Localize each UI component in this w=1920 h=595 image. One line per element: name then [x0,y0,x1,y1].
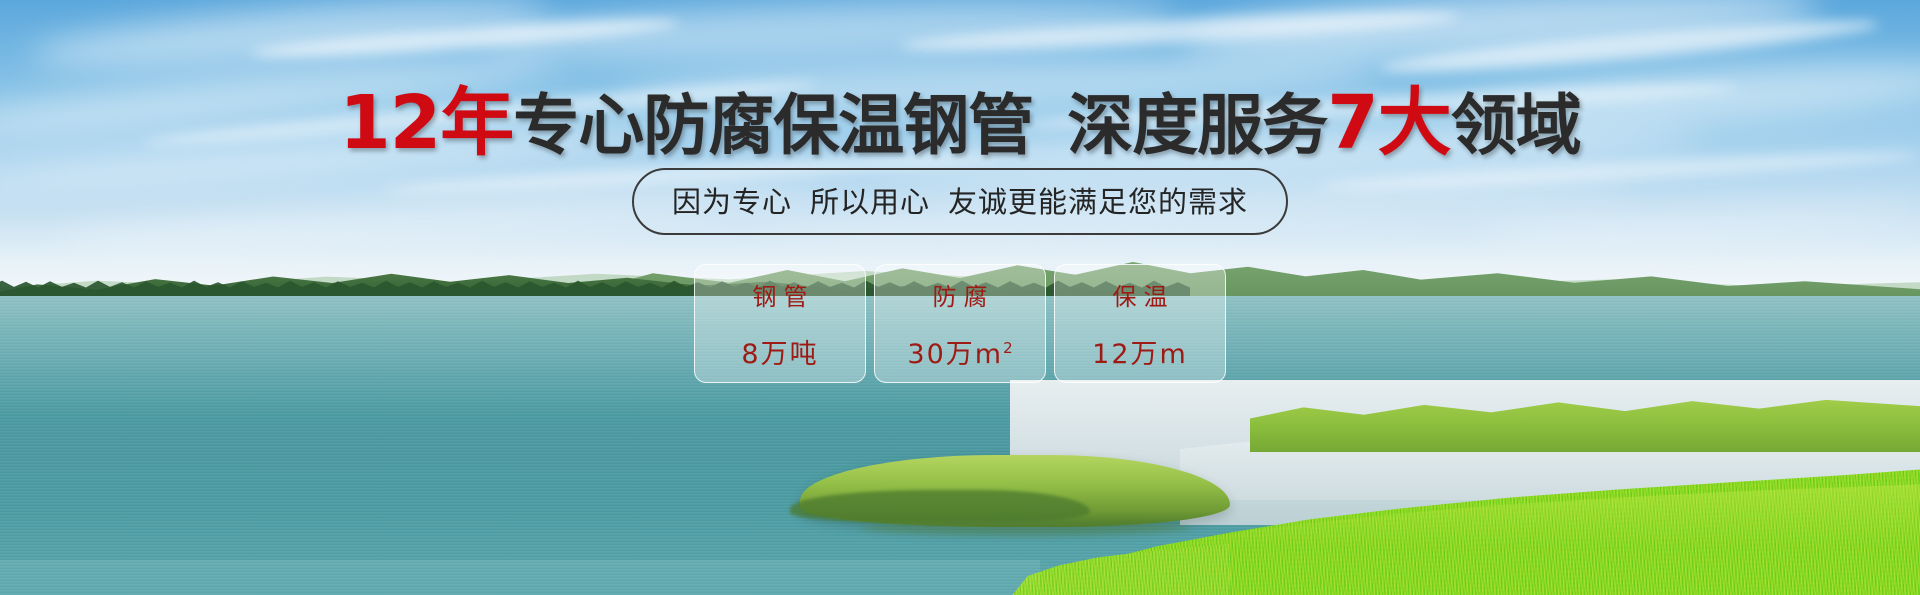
stat-card-value-superscript: 2 [1003,339,1013,357]
headline: 12年专心防腐保温钢管深度服务7大领域 [0,86,1920,160]
stat-card-label: 钢管 [746,277,815,312]
headline-fields-unit: 大 [1378,80,1451,166]
headline-service-text: 深度服务 [1067,87,1327,164]
subtitle-part-1: 因为专心 [672,185,792,219]
stat-card-value-text: 30万m [907,339,1003,370]
hero-banner: 12年专心防腐保温钢管深度服务7大领域 因为专心所以用心友诚更能满足您的需求 钢… [0,0,1920,595]
subtitle-part-2: 所以用心 [810,185,930,219]
stat-card-insulation[interactable]: 保温 12万m [1054,264,1226,383]
stat-card-label: 保温 [1106,277,1175,312]
stat-card-group: 钢管 8万吨 防腐 30万m2 保温 12万m [0,264,1920,383]
stat-card-steel-pipe[interactable]: 钢管 8万吨 [694,264,866,383]
subtitle-pill: 因为专心所以用心友诚更能满足您的需求 [632,168,1288,235]
grass-island-reflection [860,520,1190,536]
subtitle-pill-wrapper: 因为专心所以用心友诚更能满足您的需求 [0,168,1920,235]
headline-years-unit: 年 [440,80,513,166]
subtitle-part-3: 友诚更能满足您的需求 [948,185,1248,219]
headline-years-number: 12 [339,80,440,166]
water-glint [0,560,1040,595]
stat-card-value: 30万m2 [907,332,1012,371]
headline-main-text: 专心防腐保温钢管 [513,87,1033,164]
headline-fields-text: 领域 [1451,87,1581,164]
headline-fields-number: 7 [1327,80,1378,166]
stat-card-value-text: 8万吨 [741,339,818,370]
stat-card-value-text: 12万m [1092,339,1188,370]
stat-card-label: 防腐 [926,277,995,312]
stat-card-value: 8万吨 [741,332,818,371]
stat-card-value: 12万m [1092,332,1188,371]
grass-island-edge [790,490,1090,524]
stat-card-anticorrosion[interactable]: 防腐 30万m2 [874,264,1046,383]
